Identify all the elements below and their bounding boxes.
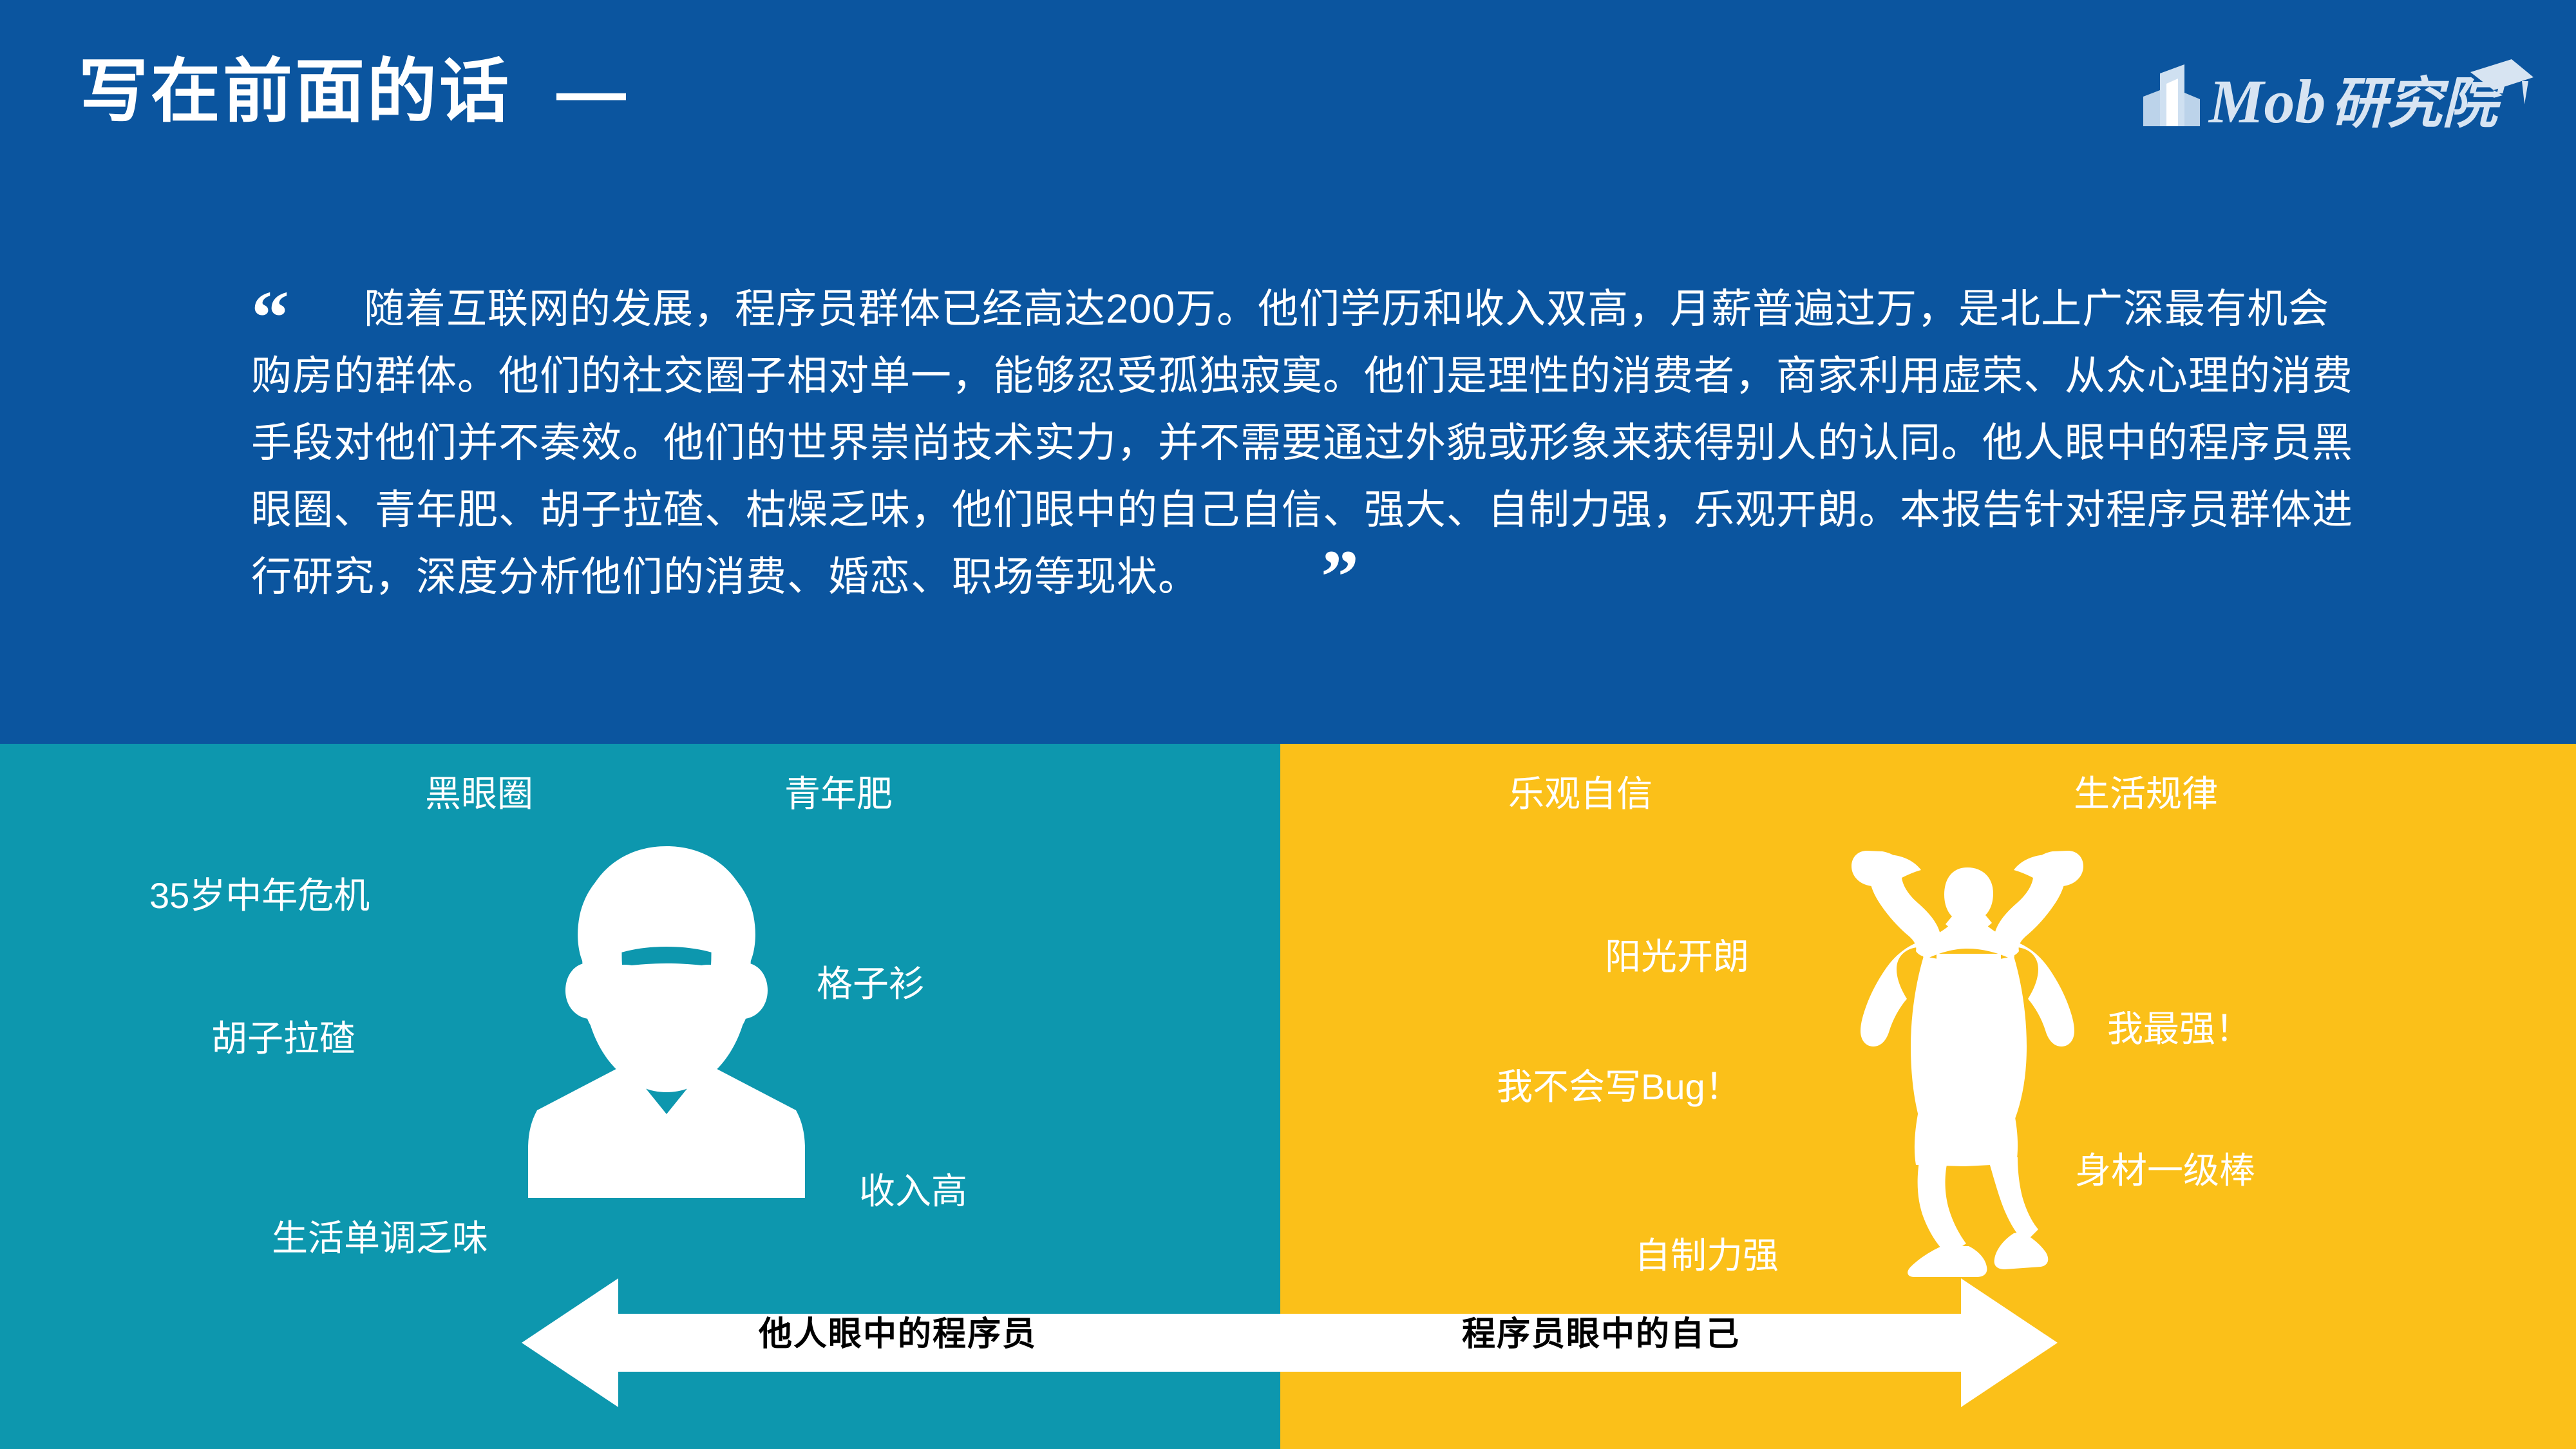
bodybuilder-icon [1839,828,2096,1278]
tag-plaid-shirt: 格子衫 [817,966,925,1002]
tag-stubble-beard: 胡子拉碴 [211,1021,355,1057]
quote-paragraph: 随着互联网的发展，程序员群体已经高达200万。他们学历和收入双高，月薪普遍过万，… [251,276,2357,611]
svg-text:Mob: Mob [2208,67,2325,136]
slide-root: 写在前面的话 — Mob 研究院 [0,0,2576,1449]
tag-no-bugs: 我不会写Bug！ [1497,1069,1741,1105]
tag-great-physique: 身材一级棒 [2075,1153,2255,1189]
svg-text:研究院: 研究院 [2331,73,2506,135]
nerd-programmer-icon [528,837,805,1198]
double-arrow-horizontal-icon [522,1278,2058,1407]
logo-wordmark: Mob 研究院 [2208,67,2506,136]
tag-sunny-cheerful: 阳光开朗 [1605,939,1749,975]
arrow-label-self-view: 程序员眼中的自己 [1462,1318,1740,1351]
tag-midlife-crisis-35: 35岁中年危机 [149,878,370,914]
header-band: 写在前面的话 — Mob 研究院 [0,0,2576,744]
tag-high-income: 收入高 [859,1173,967,1209]
tag-regular-lifestyle: 生活规律 [2074,776,2218,812]
tag-dark-circles: 黑眼圈 [425,776,533,812]
building-icon [2143,64,2200,126]
page-title-text: 写在前面的话 [79,52,511,130]
tag-optimistic-confident: 乐观自信 [1508,776,1653,812]
intro-quote-block: “ 随着互联网的发展，程序员群体已经高达200万。他们学历和收入双高，月薪普遍过… [251,276,2357,611]
quote-open-mark: “ [251,279,289,355]
tag-youth-obesity: 青年肥 [784,776,893,812]
mob-research-logo: Mob 研究院 [2138,50,2537,140]
arrow-label-others-view: 他人眼中的程序员 [759,1318,1037,1351]
tag-strong-self-control: 自制力强 [1634,1238,1779,1274]
tag-monotonous-life: 生活单调乏味 [272,1220,488,1256]
quote-body-text: 随着互联网的发展，程序员群体已经高达200万。他们学历和收入双高，月薪普遍过万，… [251,287,2353,600]
title-dash: — [556,57,629,126]
page-title: 写在前面的话 — [79,57,629,126]
tag-i-am-strongest: 我最强！ [2107,1011,2251,1047]
